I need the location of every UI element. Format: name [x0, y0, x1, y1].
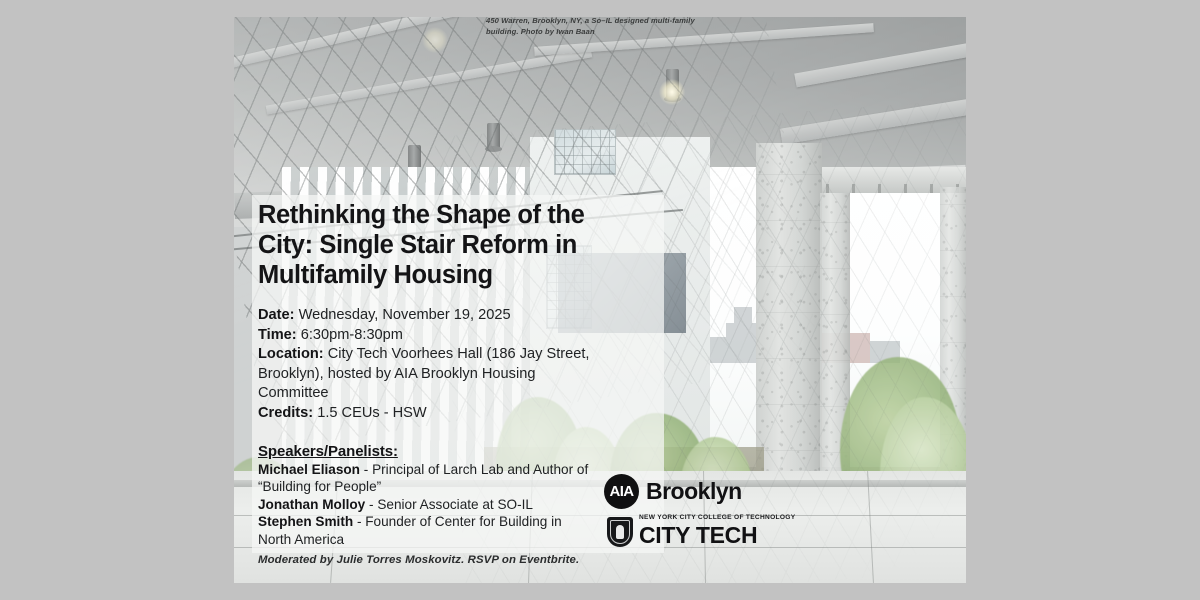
detail-date-label: Date: — [258, 307, 295, 323]
city-tech-shield-icon — [607, 517, 633, 547]
photo-caption: 450 Warren, Brooklyn, NY, a So–IL design… — [486, 15, 700, 37]
aia-mark-label: AIA — [609, 483, 633, 500]
flyer-canvas: 450 Warren, Brooklyn, NY, a So–IL design… — [0, 0, 1200, 600]
speaker-item: Jonathan Molloy - Senior Associate at SO… — [258, 496, 598, 514]
detail-time-value: 6:30pm-8:30pm — [301, 327, 403, 343]
aia-brooklyn-logo: AIA Brooklyn — [604, 474, 795, 509]
city-tech-logo: NEW YORK CITY COLLEGE OF TECHNOLOGY CITY… — [607, 515, 795, 547]
detail-date: Date: Wednesday, November 19, 2025 — [258, 306, 598, 326]
city-tech-subtitle: NEW YORK CITY COLLEGE OF TECHNOLOGY — [639, 515, 795, 522]
speakers-heading: Speakers/Panelists: — [258, 443, 598, 460]
speaker-name: Jonathan Molloy — [258, 497, 365, 512]
detail-time-label: Time: — [258, 327, 297, 343]
detail-credits-label: Credits: — [258, 405, 313, 421]
event-details: Date: Wednesday, November 19, 2025 Time:… — [258, 306, 598, 424]
detail-credits: Credits: 1.5 CEUs - HSW — [258, 404, 598, 424]
moderator-note: Moderated by Julie Torres Moskovitz. RSV… — [258, 552, 598, 570]
flyer-content: Rethinking the Shape of the City: Single… — [258, 200, 598, 569]
speaker-item: Michael Eliason - Principal of Larch Lab… — [258, 461, 598, 496]
detail-location-label: Location: — [258, 346, 324, 362]
city-tech-title: CITY TECH — [639, 524, 795, 547]
speaker-name: Michael Eliason — [258, 462, 360, 477]
detail-time: Time: 6:30pm-8:30pm — [258, 326, 598, 346]
detail-date-value: Wednesday, November 19, 2025 — [299, 307, 511, 323]
speaker-role: - Senior Associate at SO-IL — [369, 497, 533, 512]
speakers-list: Michael Eliason - Principal of Larch Lab… — [258, 461, 598, 570]
page-title: Rethinking the Shape of the City: Single… — [258, 200, 598, 290]
detail-credits-value: 1.5 CEUs - HSW — [317, 405, 426, 421]
speaker-name: Stephen Smith — [258, 514, 353, 529]
aia-brooklyn-label: Brooklyn — [646, 478, 742, 505]
speaker-item: Stephen Smith - Founder of Center for Bu… — [258, 513, 598, 548]
logo-group: AIA Brooklyn NEW YORK CITY COLLEGE OF TE… — [604, 474, 795, 547]
aia-circle-icon: AIA — [604, 474, 639, 509]
city-tech-wordmark: NEW YORK CITY COLLEGE OF TECHNOLOGY CITY… — [639, 515, 795, 547]
detail-location: Location: City Tech Voorhees Hall (186 J… — [258, 345, 598, 404]
shield-figure-icon — [616, 525, 624, 539]
